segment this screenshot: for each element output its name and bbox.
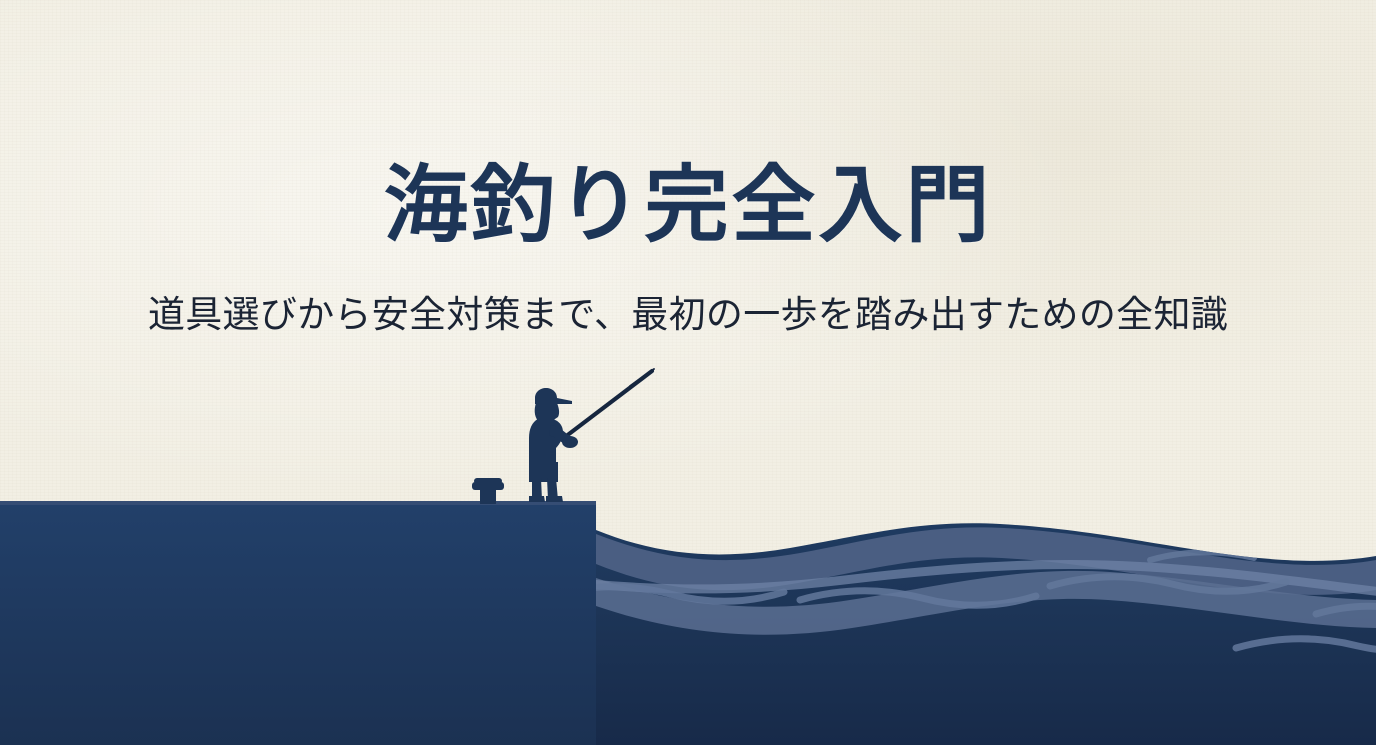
page-title: 海釣り完全入門 xyxy=(0,158,1376,252)
page-subtitle: 道具選びから安全対策まで、最初の一歩を踏み出すための全知識 xyxy=(0,291,1376,339)
fishing-rod xyxy=(565,369,654,437)
bollard xyxy=(472,478,504,504)
title-slide: 海釣り完全入門 道具選びから安全対策まで、最初の一歩を踏み出すための全知識 xyxy=(0,0,1376,745)
pier-deck xyxy=(0,501,596,745)
fisherman-on-pier-illustration xyxy=(0,0,1376,745)
